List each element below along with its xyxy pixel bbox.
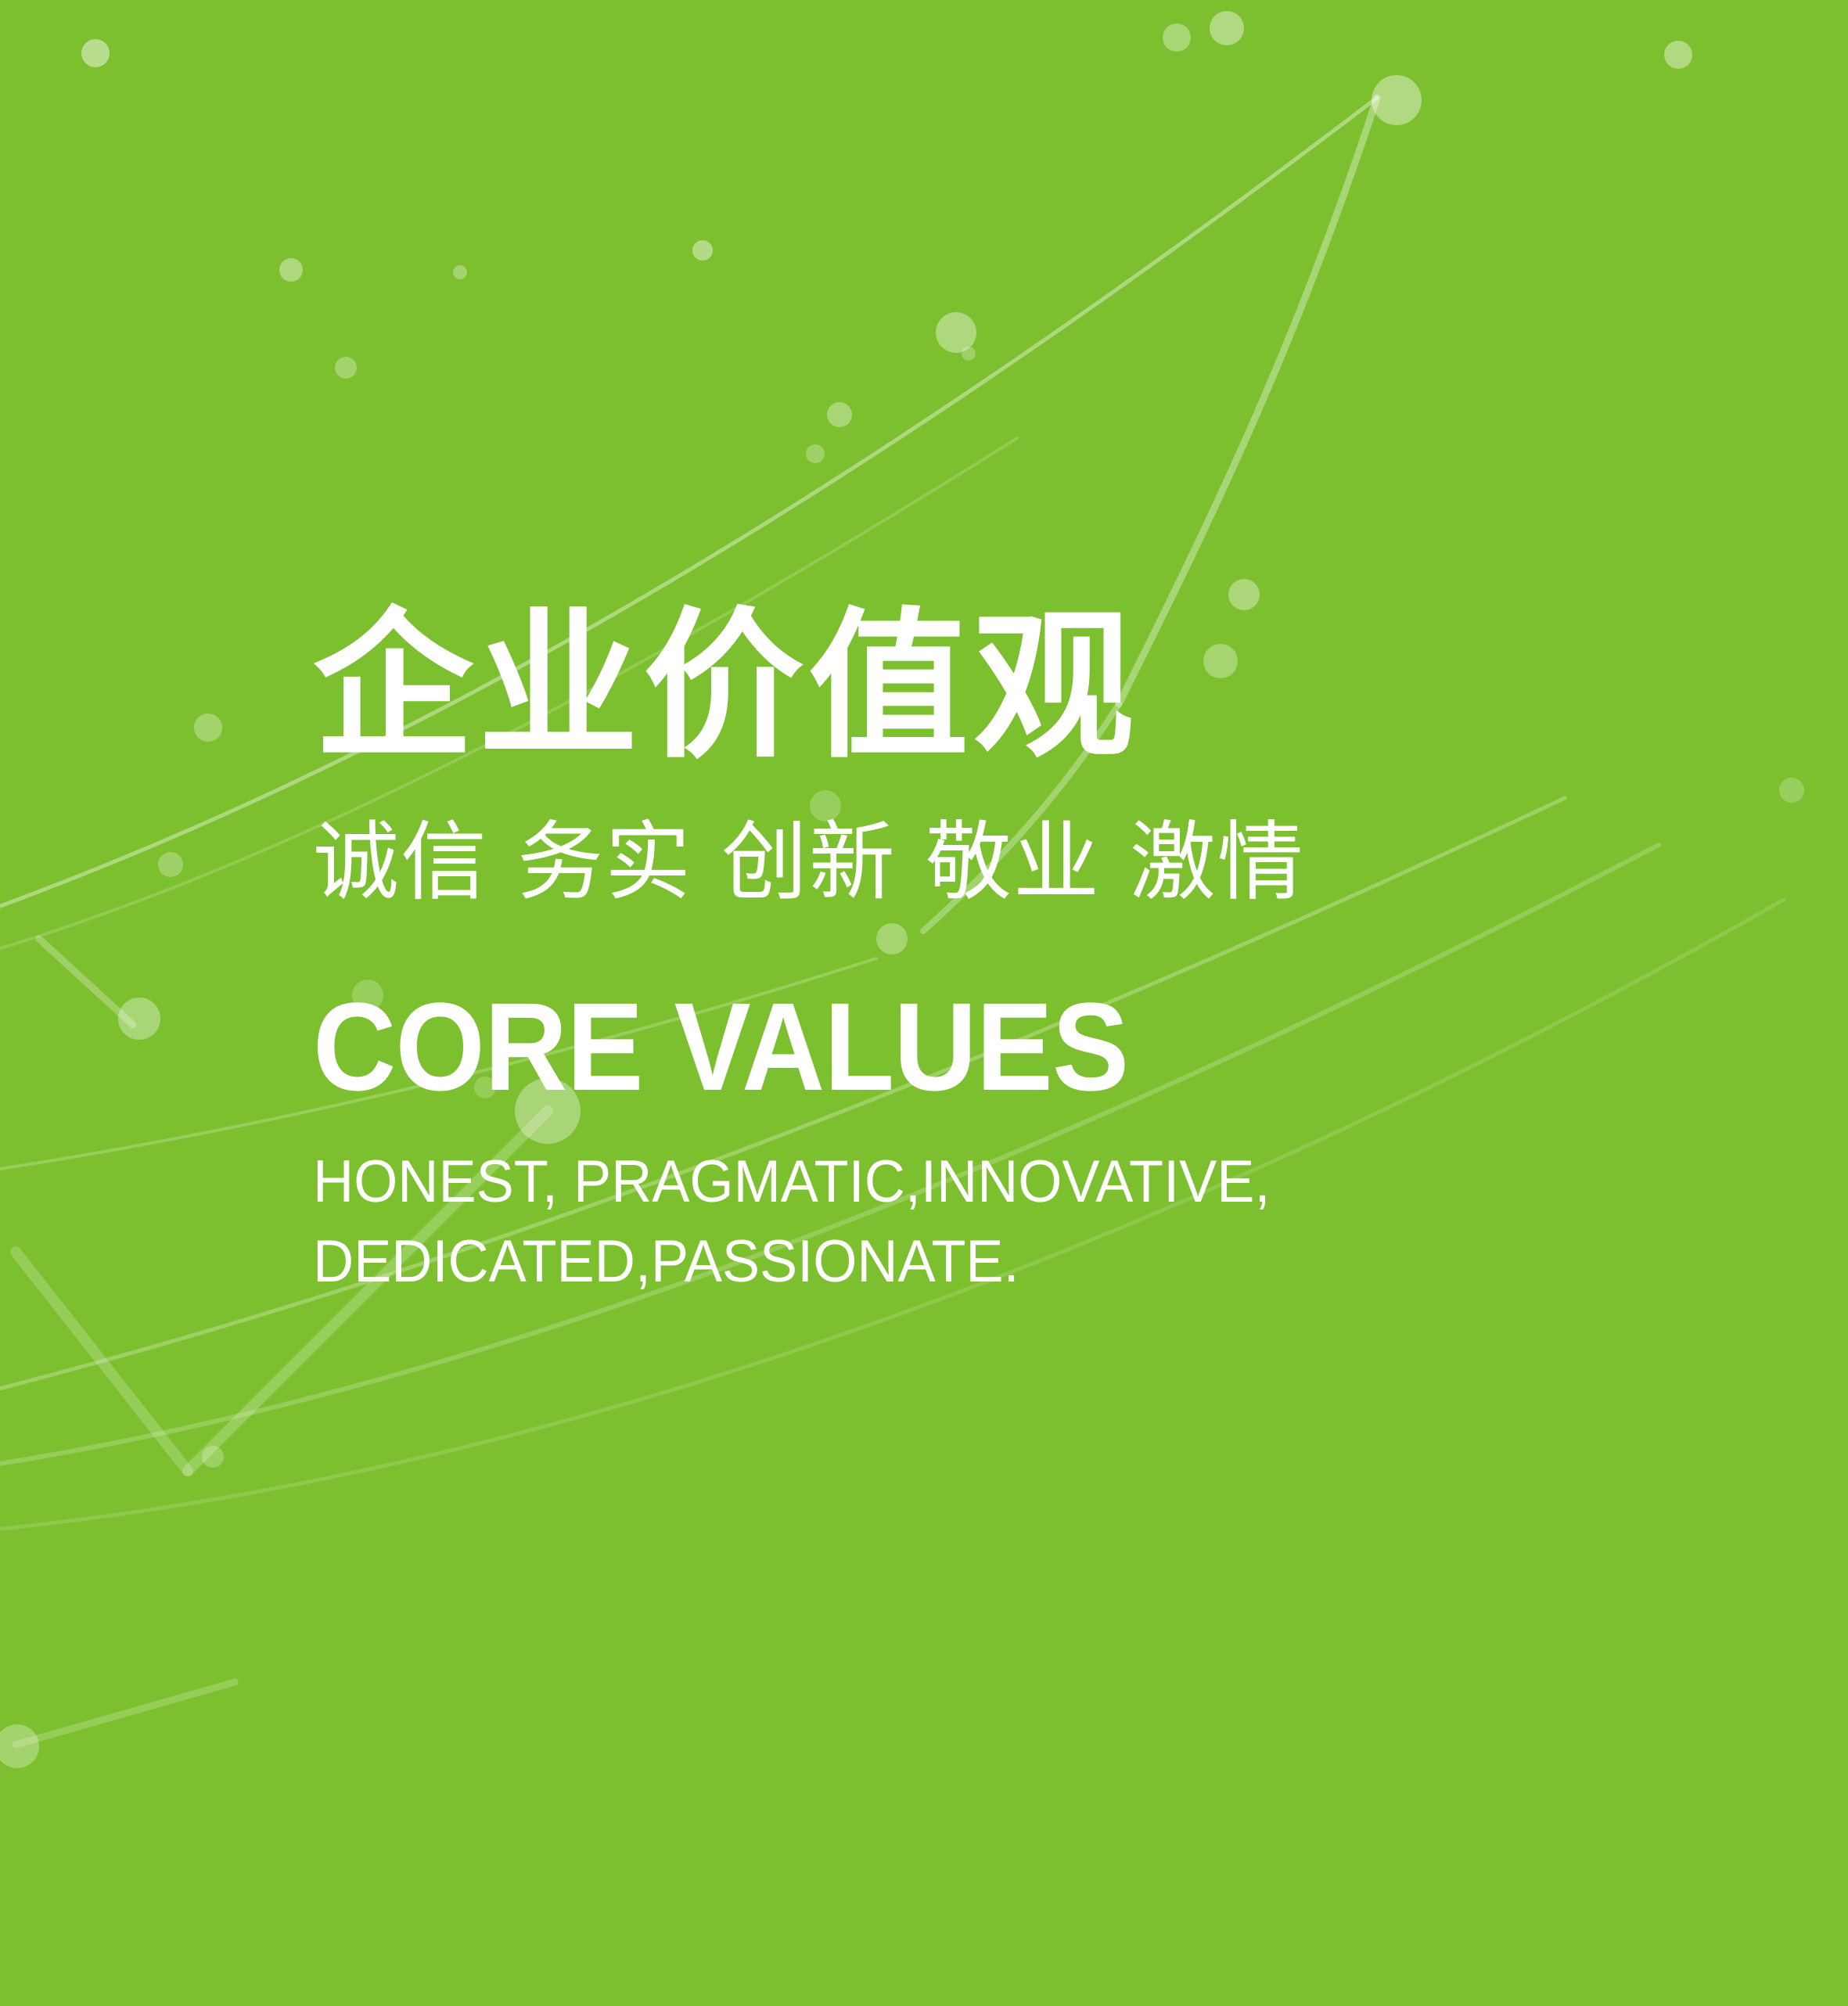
page-title-cn: 企业价值观 [313,602,1721,772]
dot-3 [1210,11,1244,45]
dot-7 [453,265,467,279]
page-title-en: CORE VALUES [313,984,1609,1109]
dot-9 [936,312,976,353]
dot-4 [1163,23,1191,52]
dot-13 [806,444,825,463]
core-values-poster: 企业价值观 诚信 务实 创新 敬业 激情 CORE VALUES HONEST,… [0,0,1848,2006]
dot-6 [692,240,713,261]
page-subtitle-cn: 诚信 务实 创新 敬业 激情 [313,813,1721,912]
dot-18 [1779,778,1804,803]
body-line-1: HONEST, PRAGMATIC,INNOVATIVE, [313,1142,1428,1222]
dot-2 [1664,41,1692,69]
text-content-block: 企业价值观 诚信 务实 创新 敬业 激情 CORE VALUES HONEST,… [313,602,1721,1301]
dot-1 [81,39,110,67]
dot-14 [158,852,183,877]
node-left-small [202,1446,224,1468]
node-bottom-left [0,1724,39,1768]
dot-12 [194,714,222,742]
page-body-en: HONEST, PRAGMATIC,INNOVATIVE, DEDICATED,… [313,1142,1428,1302]
body-line-2: DEDICATED,PASSIONATE. [313,1222,1428,1302]
dot-11 [962,347,976,361]
link-left-d [16,1682,235,1745]
node-top-right-large [1372,75,1422,125]
link-left-c [16,1252,188,1471]
dot-8 [335,357,357,379]
link-left-a [39,939,133,1025]
node-left-upper [118,998,160,1040]
dot-10 [827,402,852,427]
dot-5 [279,258,303,282]
